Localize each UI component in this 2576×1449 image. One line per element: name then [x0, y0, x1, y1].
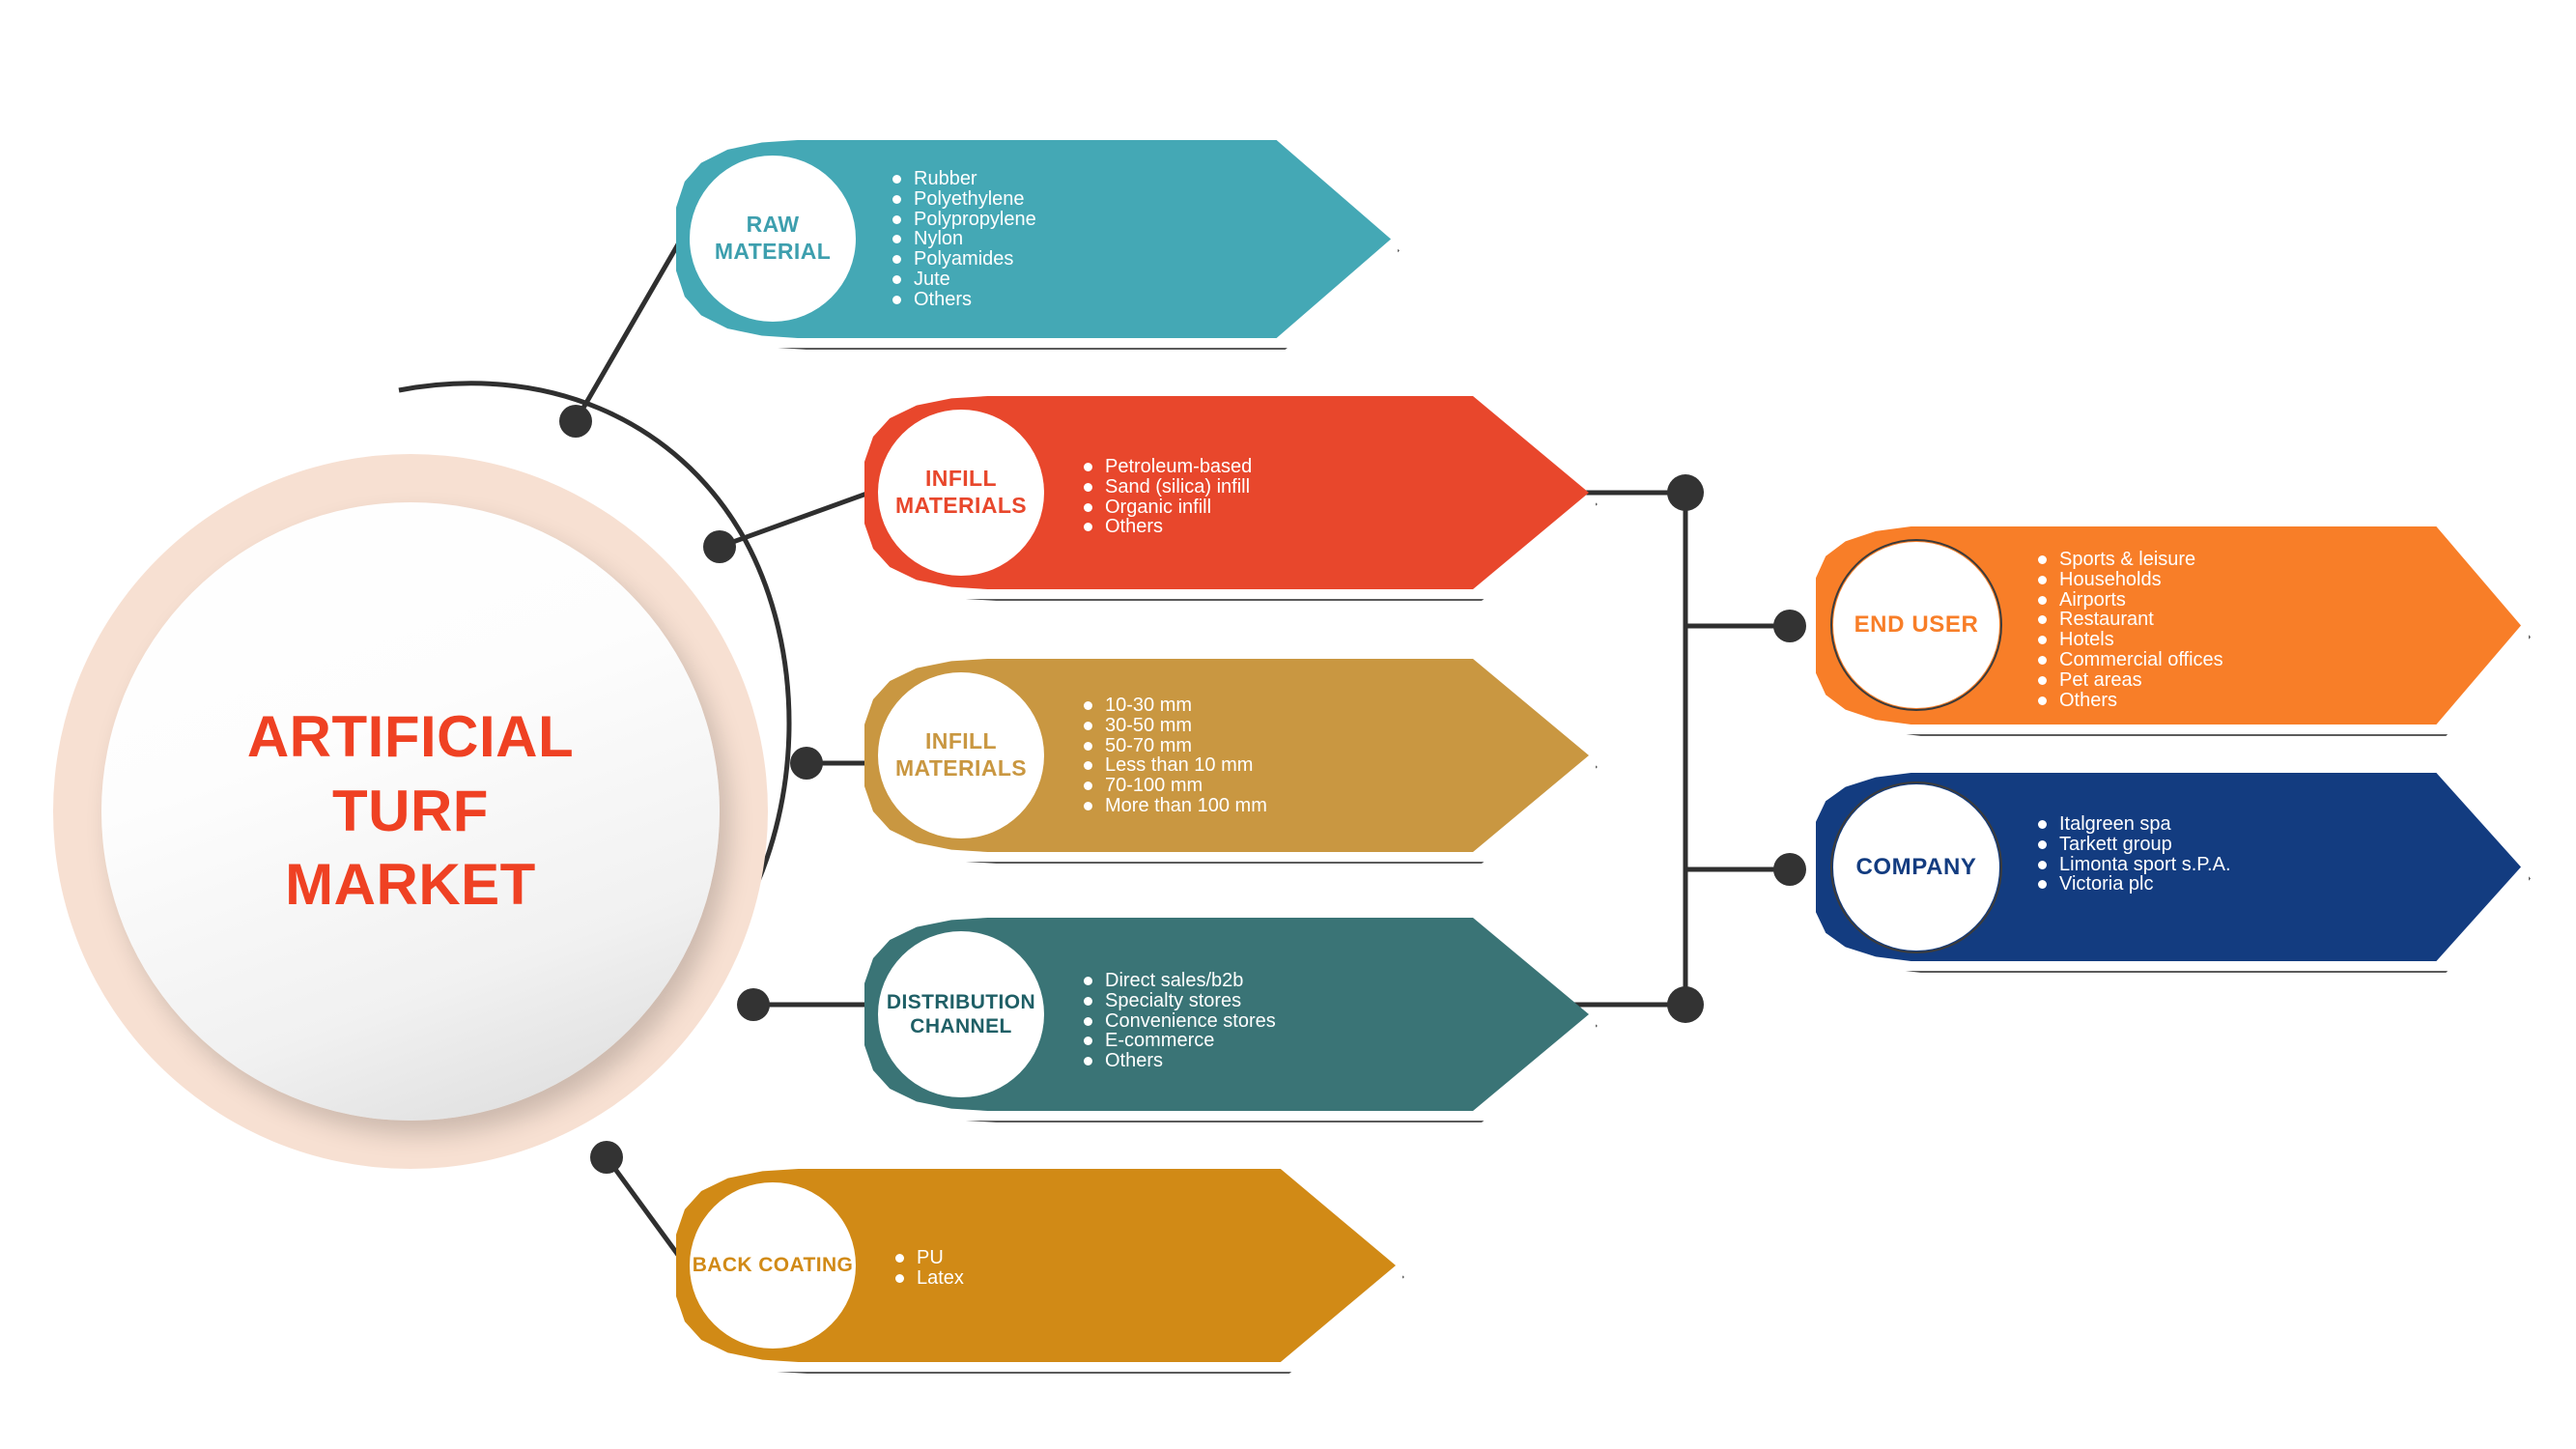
branch-label-circle-company[interactable]: COMPANY [1833, 784, 1999, 951]
branch-end-user[interactable]: END USER Sports & leisure Households Air… [1816, 526, 2521, 724]
center-hub: ARTIFICIAL TURF MARKET [53, 454, 768, 1169]
branch-label-circle-raw-material[interactable]: RAW MATERIAL [690, 156, 856, 322]
branch-items-distribution: Direct sales/b2b Specialty stores Conven… [1082, 971, 1276, 1071]
list-item: Others [1082, 1051, 1276, 1071]
spur-back-coating [607, 1157, 686, 1265]
branch-label-line-2: CHANNEL [910, 1015, 1011, 1037]
list-item: Airports [2036, 590, 2223, 611]
branch-label-line-2: MATERIALS [895, 755, 1027, 781]
branch-label-circle-back-coating[interactable]: BACK COATING [690, 1182, 856, 1349]
list-item: 50-70 mm [1082, 736, 1267, 756]
hub-title-line-2: TURF [332, 779, 489, 843]
branch-items-infill-size: 10-30 mm 30-50 mm 50-70 mm Less than 10 … [1082, 696, 1267, 816]
spur-raw-material [576, 238, 682, 421]
list-item: Others [891, 290, 1036, 310]
branch-items-back-coating: PU Latex [893, 1248, 964, 1289]
branch-label-line-1: RAW [747, 212, 800, 237]
list-item: Sand (silica) infill [1082, 477, 1252, 497]
node-end-user [1773, 610, 1806, 642]
list-item: Organic infill [1082, 497, 1252, 518]
branch-items-infill-type: Petroleum-based Sand (silica) infill Org… [1082, 457, 1252, 537]
node-bus-bottom [1667, 986, 1704, 1023]
branch-label-circle-end-user[interactable]: END USER [1833, 542, 1999, 708]
branch-label-line-1: INFILL [925, 728, 997, 753]
list-item: E-commerce [1082, 1031, 1276, 1051]
branch-label: COMPANY [1855, 854, 1976, 882]
infographic-canvas: ARTIFICIAL TURF MARKET RAW MATERIAL Rubb… [0, 0, 2576, 1449]
branch-infill-materials-type[interactable]: INFILL MATERIALS Petroleum-based Sand (s… [864, 396, 1589, 589]
list-item: Sports & leisure [2036, 550, 2223, 570]
list-item: Pet areas [2036, 670, 2223, 691]
list-item: Victoria plc [2036, 874, 2231, 895]
branch-distribution-channel[interactable]: DISTRIBUTION CHANNEL Direct sales/b2b Sp… [864, 918, 1589, 1111]
branch-label-line-2: MATERIALS [895, 493, 1027, 518]
list-item: Jute [891, 270, 1036, 290]
page-title: ARTIFICIAL TURF MARKET [145, 700, 676, 923]
hub-title-line-3: MARKET [285, 852, 536, 917]
branch-items-end-user: Sports & leisure Households Airports Res… [2036, 550, 2223, 710]
list-item: Others [1082, 517, 1252, 537]
list-item: Latex [893, 1268, 964, 1289]
list-item: Nylon [891, 229, 1036, 249]
list-item: Convenience stores [1082, 1011, 1276, 1032]
branch-items-raw-material: Rubber Polyethylene Polypropylene Nylon … [891, 169, 1036, 310]
list-item: Rubber [891, 169, 1036, 189]
node-raw-material [559, 405, 592, 438]
node-bus-top [1667, 474, 1704, 511]
branch-label-line-2: MATERIAL [715, 239, 831, 264]
hub-title-line-1: ARTIFICIAL [247, 704, 574, 769]
branch-label-circle-infill-type[interactable]: INFILL MATERIALS [878, 410, 1044, 576]
branch-items-company: Italgreen spa Tarkett group Limonta spor… [2036, 814, 2231, 895]
list-item: Limonta sport s.P.A. [2036, 855, 2231, 875]
list-item: Italgreen spa [2036, 814, 2231, 835]
list-item: Polypropylene [891, 210, 1036, 230]
branch-infill-materials-size[interactable]: INFILL MATERIALS 10-30 mm 30-50 mm 50-70… [864, 659, 1589, 852]
list-item: Direct sales/b2b [1082, 971, 1276, 991]
node-infill-size [790, 747, 823, 780]
list-item: 70-100 mm [1082, 776, 1267, 796]
hub-inner-disc: ARTIFICIAL TURF MARKET [101, 502, 720, 1121]
branch-label-line-1: BACK COATING [693, 1254, 854, 1276]
branch-label-circle-infill-size[interactable]: INFILL MATERIALS [878, 672, 1044, 838]
branch-raw-material[interactable]: RAW MATERIAL Rubber Polyethylene Polypro… [676, 140, 1391, 338]
branch-company[interactable]: COMPANY Italgreen spa Tarkett group Limo… [1816, 773, 2521, 961]
list-item: Polyamides [891, 249, 1036, 270]
list-item: Specialty stores [1082, 991, 1276, 1011]
branch-back-coating[interactable]: BACK COATING PU Latex [676, 1169, 1396, 1362]
branch-label-line-1: INFILL [925, 466, 997, 491]
list-item: Petroleum-based [1082, 457, 1252, 477]
branch-label-line-1: DISTRIBUTION [887, 991, 1035, 1013]
branch-label-circle-distribution[interactable]: DISTRIBUTION CHANNEL [878, 931, 1044, 1097]
list-item: More than 100 mm [1082, 796, 1267, 816]
list-item: Others [2036, 691, 2223, 711]
list-item: Polyethylene [891, 189, 1036, 210]
list-item: Households [2036, 570, 2223, 590]
node-company [1773, 853, 1806, 886]
list-item: Hotels [2036, 630, 2223, 650]
list-item: 30-50 mm [1082, 716, 1267, 736]
list-item: PU [893, 1248, 964, 1268]
branch-label: END USER [1854, 611, 1979, 639]
list-item: 10-30 mm [1082, 696, 1267, 716]
list-item: Commercial offices [2036, 650, 2223, 670]
list-item: Tarkett group [2036, 835, 2231, 855]
list-item: Less than 10 mm [1082, 755, 1267, 776]
list-item: Restaurant [2036, 610, 2223, 630]
